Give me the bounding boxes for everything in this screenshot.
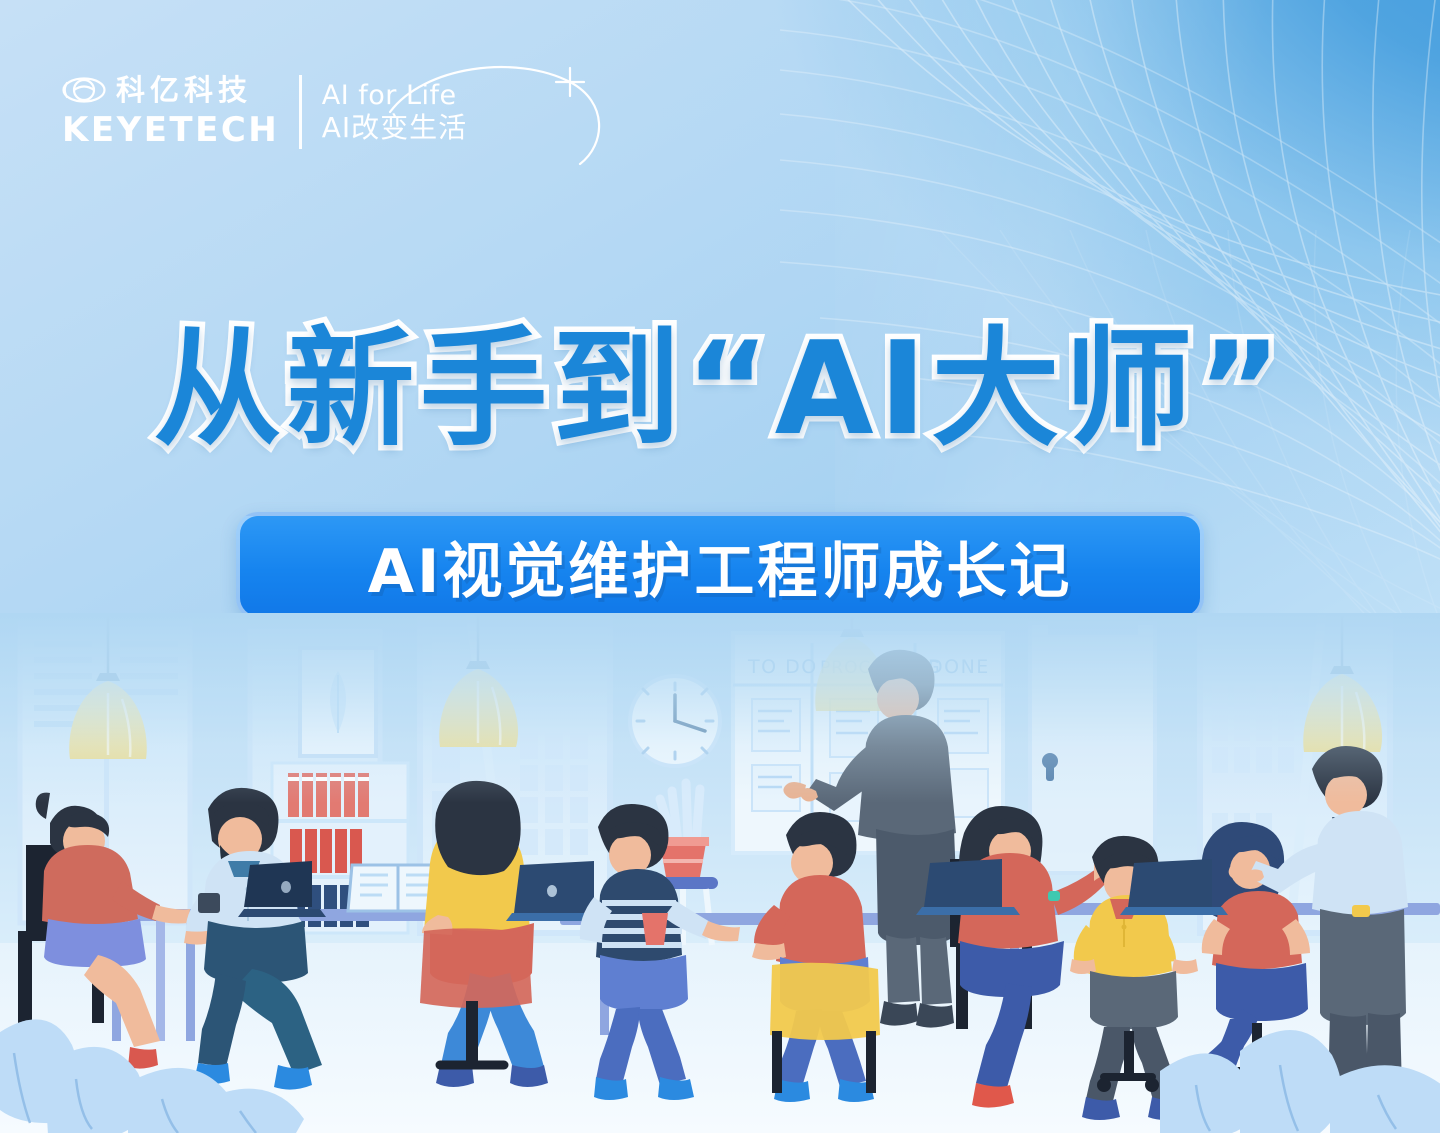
cup: [642, 913, 668, 945]
subtitle-banner: AI视觉维护工程师成长记: [236, 512, 1204, 620]
slogan-english: AI for Life: [322, 82, 467, 109]
brand-en-name: KEYETECH: [62, 111, 279, 150]
page-title: 从新手到“AI大师”: [0, 326, 1440, 454]
wall-clock: [630, 676, 720, 766]
illustration-svg: TO DO PROCESSING DONE: [0, 613, 1440, 1133]
coffee-cup: [198, 893, 220, 913]
brand-logo[interactable]: 科亿科技 KEYETECH AI for Life AI改变生活: [62, 74, 467, 150]
subtitle-text: AI视觉维护工程师成长记: [368, 523, 1073, 610]
brand-cn-row: 科亿科技: [62, 74, 279, 106]
curved-mesh-decor: [780, 0, 1440, 580]
slogan-chinese: AI改变生活: [322, 113, 467, 142]
brand-slogan: AI for Life AI改变生活: [322, 82, 467, 142]
brand-cn-name: 科亿科技: [116, 76, 252, 105]
poster-canvas: 科亿科技 KEYETECH AI for Life AI改变生活 从新手到“AI…: [0, 0, 1440, 1133]
whiteboard-col-todo: TO DO: [747, 656, 818, 678]
brand-name-block: 科亿科技 KEYETECH: [62, 74, 279, 150]
whiteboard-col-done: DONE: [928, 656, 990, 678]
office-team-illustration: TO DO PROCESSING DONE: [0, 613, 1440, 1133]
eye-lens-icon: [62, 74, 106, 106]
logo-divider: [299, 75, 302, 149]
framed-picture: [300, 648, 376, 756]
laptop: [1120, 859, 1228, 915]
